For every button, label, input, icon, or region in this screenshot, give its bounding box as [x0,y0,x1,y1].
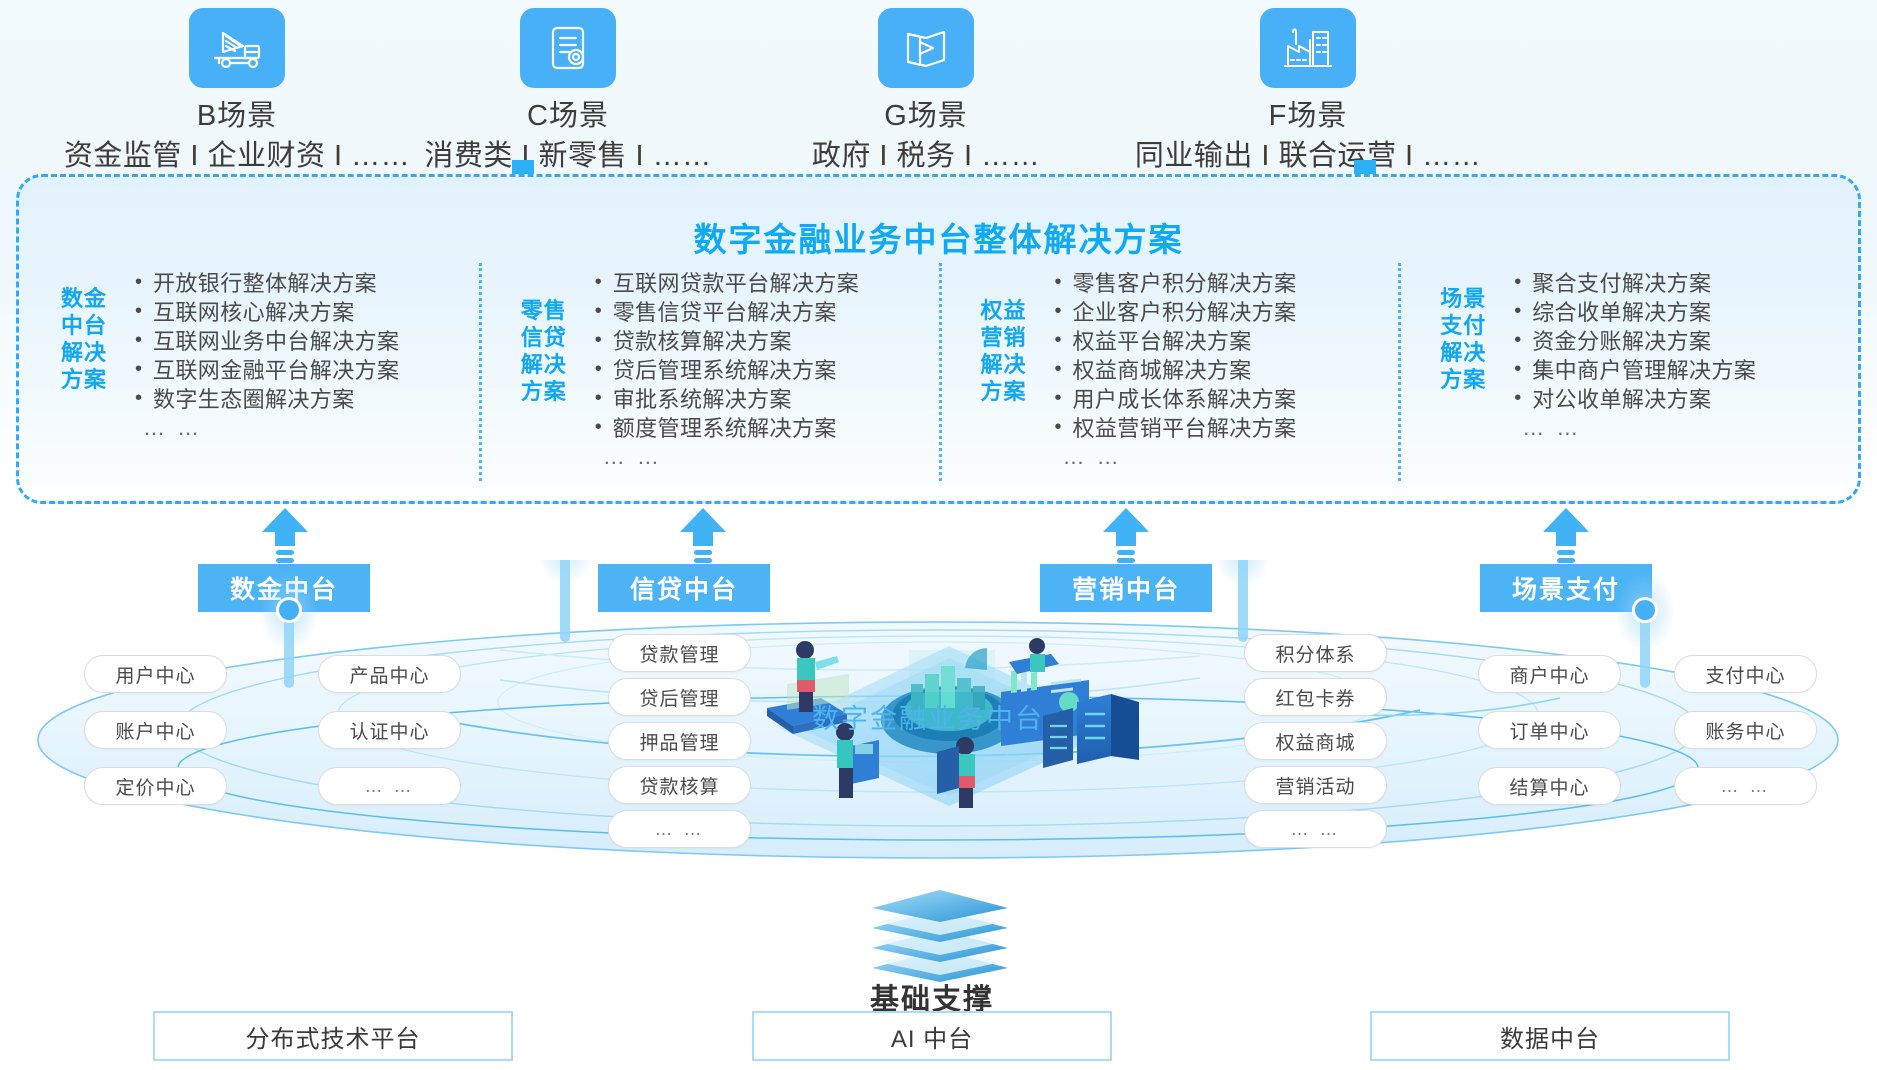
scenario-subtitle: 消费类 I 新零售 I …… [358,136,778,176]
solution-more-ellipsis: … … [1502,414,1756,442]
capability-pill[interactable]: 商户中心 [1478,655,1621,693]
solution-column-label: 零售信贷解决方案 [505,297,583,405]
solution-column-label: 数金中台解决方案 [45,285,123,393]
capability-pill[interactable]: … … [1244,810,1387,848]
solution-item-list: 聚合支付解决方案 综合收单解决方案 资金分账解决方案 集中商户管理解决方案 对公… [1512,267,1756,414]
list-item: 互联网金融平台解决方案 [133,356,399,385]
list-item: 开放银行整体解决方案 [133,269,399,298]
list-item: 贷后管理系统解决方案 [593,356,859,385]
solution-more-ellipsis: … … [123,414,399,442]
capability-pill[interactable]: 结算中心 [1478,767,1621,805]
stage-platform: 数字金融业务中台 [0,560,1877,860]
capability-pill[interactable]: 认证中心 [318,711,461,749]
capability-pill[interactable]: 积分体系 [1244,634,1387,672]
foundation-box-ai[interactable]: AI 中台 [752,1011,1112,1061]
list-item: 数字生态圈解决方案 [133,385,399,414]
solution-column-shujin: 数金中台解决方案 开放银行整体解决方案 互联网核心解决方案 互联网业务中台解决方… [19,259,479,499]
scenario-card-c[interactable]: C场景 消费类 I 新零售 I …… [358,8,778,176]
capability-pill[interactable]: 权益商城 [1244,722,1387,760]
capability-pill[interactable]: 贷后管理 [608,678,751,716]
capability-pill[interactable]: 支付中心 [1674,655,1817,693]
capability-pill[interactable]: 产品中心 [318,655,461,693]
foundation-box-distributed[interactable]: 分布式技术平台 [153,1011,513,1061]
scenario-card-g[interactable]: G场景 政府 I 税务 I …… [716,8,1136,176]
capability-pill[interactable]: … … [608,810,751,848]
capability-pill[interactable]: … … [318,767,461,805]
solution-columns: 数金中台解决方案 开放银行整体解决方案 互联网核心解决方案 互联网业务中台解决方… [19,259,1858,499]
list-item: 互联网贷款平台解决方案 [593,269,859,298]
scenario-subtitle: 同业输出 I 联合运营 I …… [1098,136,1518,176]
solution-column-label: 场景支付解决方案 [1424,285,1502,393]
solution-more-ellipsis: … … [583,443,859,471]
ship-truck-logistics-icon [189,8,285,88]
scenario-title: F场景 [1098,96,1518,136]
solution-item-list: 零售客户积分解决方案 企业客户积分解决方案 权益平台解决方案 权益商城解决方案 … [1053,267,1297,443]
layered-stack-icon [860,888,1020,983]
foundation-box-label: 数据中台 [1500,1019,1600,1054]
capability-pill[interactable]: 账务中心 [1674,711,1817,749]
capability-pill[interactable]: 红包卡券 [1244,678,1387,716]
list-item: 互联网业务中台解决方案 [133,327,399,356]
scenario-card-f[interactable]: F场景 同业输出 I 联合运营 I …… [1098,8,1518,176]
list-item: 互联网核心解决方案 [133,298,399,327]
capability-pill[interactable]: 定价中心 [84,767,227,805]
solution-item-list: 开放银行整体解决方案 互联网核心解决方案 互联网业务中台解决方案 互联网金融平台… [133,267,399,414]
list-item: 聚合支付解决方案 [1512,269,1756,298]
solution-column-quanyi-yingxiao: 权益营销解决方案 零售客户积分解决方案 企业客户积分解决方案 权益平台解决方案 … [939,259,1399,499]
capability-pill[interactable]: 贷款核算 [608,766,751,804]
foundation-box-data[interactable]: 数据中台 [1370,1011,1730,1061]
capability-pill[interactable]: … … [1674,767,1817,805]
solution-column-lingshou-xindai: 零售信贷解决方案 互联网贷款平台解决方案 零售信贷平台解决方案 贷款核算解决方案… [479,259,939,499]
list-item: 集中商户管理解决方案 [1512,356,1756,385]
map-flag-icon [878,8,974,88]
list-item: 权益营销平台解决方案 [1053,414,1297,443]
factory-building-icon [1260,8,1356,88]
scenario-subtitle: 政府 I 税务 I …… [716,136,1136,176]
list-item: 零售客户积分解决方案 [1053,269,1297,298]
capability-pill[interactable]: 贷款管理 [608,634,751,672]
list-item: 对公收单解决方案 [1512,385,1756,414]
list-item: 资金分账解决方案 [1512,327,1756,356]
scenario-title: G场景 [716,96,1136,136]
capability-pill[interactable]: 账户中心 [84,711,227,749]
solution-more-ellipsis: … … [1043,443,1297,471]
list-item: 零售信贷平台解决方案 [593,298,859,327]
list-item: 综合收单解决方案 [1512,298,1756,327]
stage-caption: 数字金融业务中台 [812,697,1044,736]
list-item: 企业客户积分解决方案 [1053,298,1297,327]
foundation-box-label: AI 中台 [891,1019,973,1054]
solution-panel: 数字金融业务中台整体解决方案 数金中台解决方案 开放银行整体解决方案 互联网核心… [16,174,1861,504]
capability-pill[interactable]: 营销活动 [1244,766,1387,804]
solution-column-label: 权益营销解决方案 [965,297,1043,405]
capability-pill[interactable]: 用户中心 [84,655,227,693]
list-item: 额度管理系统解决方案 [593,414,859,443]
list-item: 贷款核算解决方案 [593,327,859,356]
capability-pill[interactable]: 订单中心 [1478,711,1621,749]
scenarios-row: B场景 资金监管 I 企业财资 I …… C场景 消费类 I 新零售 I …… … [0,0,1877,172]
solution-item-list: 互联网贷款平台解决方案 零售信贷平台解决方案 贷款核算解决方案 贷后管理系统解决… [593,267,859,443]
document-server-icon [520,8,616,88]
page-title: 数字金融业务中台整体解决方案 [19,213,1858,261]
list-item: 审批系统解决方案 [593,385,859,414]
solution-column-changjing-zhifu: 场景支付解决方案 聚合支付解决方案 综合收单解决方案 资金分账解决方案 集中商户… [1398,259,1858,499]
foundation-box-label: 分布式技术平台 [246,1019,421,1054]
capability-pill[interactable]: 押品管理 [608,722,751,760]
scenario-title: C场景 [358,96,778,136]
list-item: 权益平台解决方案 [1053,327,1297,356]
list-item: 用户成长体系解决方案 [1053,385,1297,414]
list-item: 权益商城解决方案 [1053,356,1297,385]
